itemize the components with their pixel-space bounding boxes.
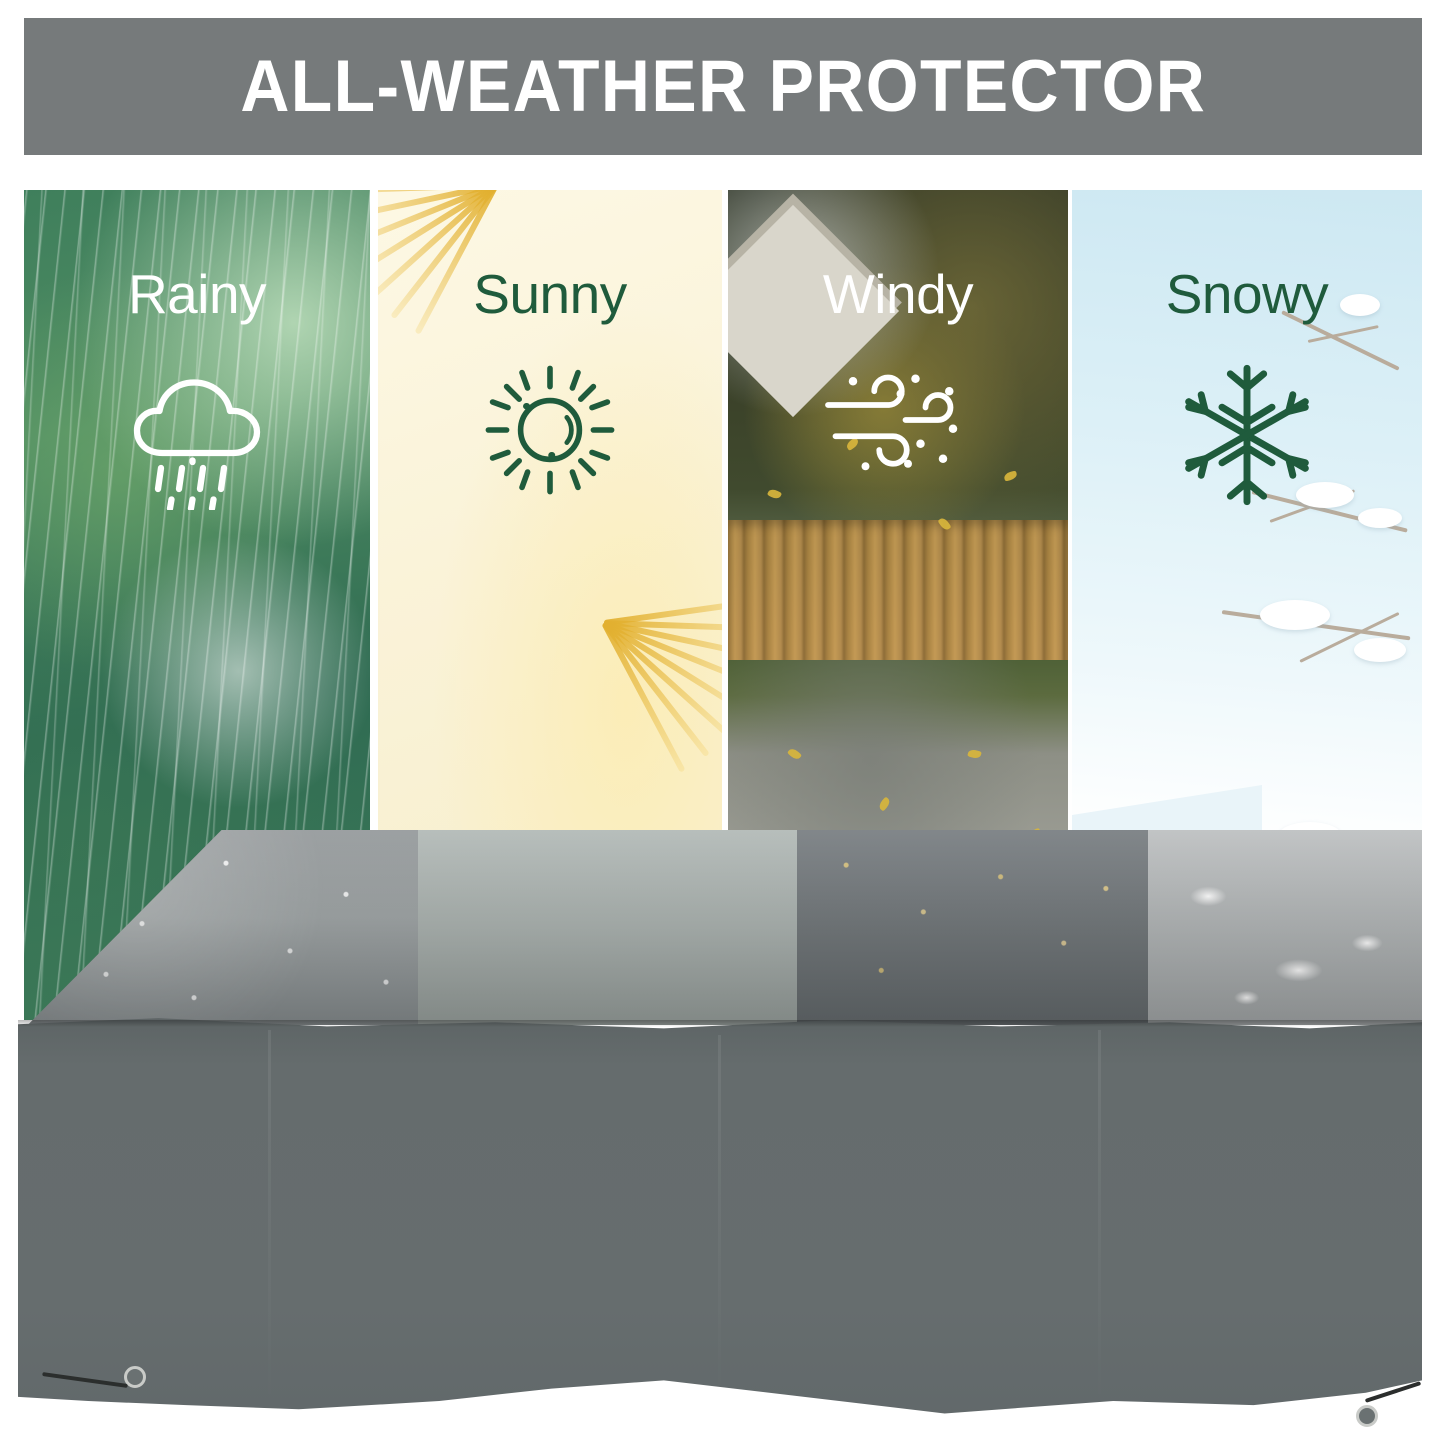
panel-label-sunny: Sunny (378, 262, 722, 326)
panel-label-snowy: Snowy (1072, 262, 1422, 326)
panel-label-windy: Windy (728, 262, 1068, 326)
grommet-right (1356, 1405, 1378, 1427)
panel-label-rainy: Rainy (24, 262, 370, 326)
cover-top-seam (18, 1020, 1422, 1027)
page-title: ALL-WEATHER PROTECTOR (240, 45, 1206, 128)
cover-top-segment-snow-patches (1148, 830, 1422, 1025)
wind-icon (728, 360, 1068, 480)
cover-top-segment-sun-plain (418, 830, 797, 1025)
cover-top-segment-wind-leaves (797, 830, 1148, 1025)
cover-fold-line (1098, 1030, 1101, 1410)
furniture-cover-product (18, 830, 1422, 1430)
cover-fold-line (268, 1030, 271, 1410)
rain-cloud-icon (24, 360, 370, 510)
snowflake-icon (1072, 360, 1422, 510)
wooden-fence-shape (728, 520, 1068, 670)
sun-icon (378, 360, 722, 500)
cover-top-segment-rain-droplets (18, 830, 418, 1025)
cover-top-surface (18, 830, 1422, 1025)
cover-fold-line (718, 1035, 721, 1405)
marketing-image: ALL-WEATHER PROTECTOR Rainy (0, 0, 1445, 1445)
header-banner: ALL-WEATHER PROTECTOR (24, 18, 1422, 155)
